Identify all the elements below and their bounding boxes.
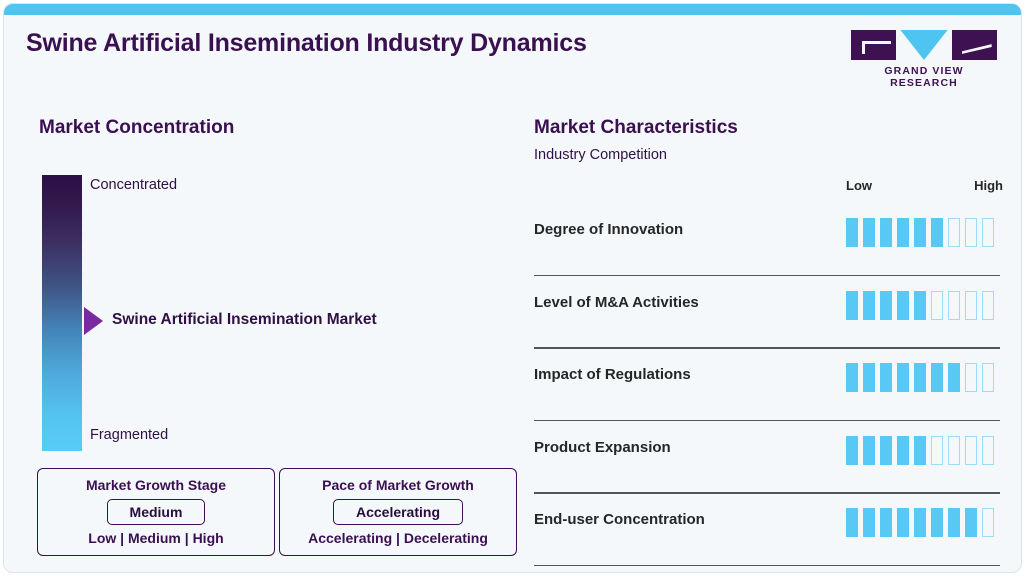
rating-bar-empty: [931, 291, 943, 320]
rating-bar-filled: [965, 508, 977, 537]
rating-bars: [846, 508, 994, 537]
market-position-label: Swine Artificial Insemination Market: [112, 311, 377, 329]
rating-bar-filled: [846, 508, 858, 537]
rating-bar-empty: [982, 508, 994, 537]
rating-bar-filled: [880, 218, 892, 247]
rating-bar-empty: [965, 363, 977, 392]
rating-bar-filled: [931, 363, 943, 392]
rating-bar-filled: [931, 218, 943, 247]
rating-bar-filled: [846, 291, 858, 320]
pace-of-growth-card: Pace of Market Growth Accelerating Accel…: [279, 468, 517, 556]
rating-bar-filled: [914, 436, 926, 465]
rating-bar-filled: [914, 508, 926, 537]
pace-scale: Accelerating | Decelerating: [308, 530, 488, 546]
rating-bar-filled: [897, 363, 909, 392]
growth-stage-value: Medium: [107, 499, 206, 525]
rating-bar-filled: [948, 508, 960, 537]
scale-label-concentrated: Concentrated: [90, 177, 177, 193]
rating-bar-filled: [931, 508, 943, 537]
rating-bar-empty: [982, 291, 994, 320]
rating-bars: [846, 363, 994, 392]
rating-bar-empty: [982, 218, 994, 247]
rating-bar-filled: [897, 218, 909, 247]
rating-bar-filled: [897, 508, 909, 537]
pace-value: Accelerating: [333, 499, 463, 525]
rating-bar-empty: [948, 218, 960, 247]
rating-bar-filled: [863, 436, 875, 465]
growth-stage-scale: Low | Medium | High: [88, 530, 223, 546]
rating-bar-filled: [880, 436, 892, 465]
rating-bar-empty: [965, 218, 977, 247]
pace-heading: Pace of Market Growth: [322, 477, 474, 493]
rating-bar-filled: [863, 508, 875, 537]
rating-bar-empty: [982, 363, 994, 392]
rating-bar-filled: [897, 436, 909, 465]
market-characteristics-panel: Market Characteristics Industry Competit…: [516, 4, 1022, 573]
concentration-gradient-scale: [42, 175, 82, 451]
rating-bars: [846, 291, 994, 320]
characteristic-row: Product Expansion: [534, 422, 1000, 494]
rating-bar-filled: [914, 218, 926, 247]
market-growth-stage-card: Market Growth Stage Medium Low | Medium …: [37, 468, 275, 556]
rating-bar-filled: [846, 436, 858, 465]
characteristic-row: End-user Concentration: [534, 494, 1000, 566]
rating-bar-empty: [965, 436, 977, 465]
rating-bar-filled: [880, 363, 892, 392]
rating-bar-empty: [982, 436, 994, 465]
scale-header-low: Low: [846, 178, 872, 193]
scale-header-high: High: [974, 178, 1003, 193]
market-concentration-panel: Market Concentration Concentrated Fragme…: [4, 4, 516, 573]
rating-bar-empty: [931, 436, 943, 465]
rating-bar-filled: [863, 291, 875, 320]
infographic-card: Swine Artificial Insemination Industry D…: [3, 3, 1022, 573]
rating-bar-empty: [948, 291, 960, 320]
characteristic-label: Impact of Regulations: [534, 366, 691, 383]
market-position-arrow-icon: [84, 307, 103, 335]
characteristic-label: Product Expansion: [534, 439, 671, 456]
growth-stage-heading: Market Growth Stage: [86, 477, 226, 493]
characteristic-row: Impact of Regulations: [534, 349, 1000, 421]
rating-bar-filled: [914, 363, 926, 392]
rating-bars: [846, 436, 994, 465]
rating-bar-filled: [948, 363, 960, 392]
rating-bar-filled: [897, 291, 909, 320]
rating-bar-filled: [880, 508, 892, 537]
rating-bar-filled: [863, 218, 875, 247]
characteristic-label: Level of M&A Activities: [534, 294, 699, 311]
rating-bar-filled: [863, 363, 875, 392]
rating-bar-filled: [880, 291, 892, 320]
characteristic-label: Degree of Innovation: [534, 221, 683, 238]
rating-bar-filled: [846, 218, 858, 247]
characteristic-row: Degree of Innovation: [534, 204, 1000, 276]
rating-bar-empty: [948, 436, 960, 465]
rating-bar-filled: [846, 363, 858, 392]
rating-bar-empty: [965, 291, 977, 320]
market-characteristics-subtitle: Industry Competition: [534, 147, 667, 163]
characteristic-row: Level of M&A Activities: [534, 277, 1000, 349]
market-concentration-title: Market Concentration: [39, 117, 234, 139]
characteristic-label: End-user Concentration: [534, 511, 705, 528]
market-characteristics-title: Market Characteristics: [534, 117, 738, 139]
scale-header: Low High: [846, 178, 1003, 193]
scale-label-fragmented: Fragmented: [90, 427, 168, 443]
row-divider: [534, 565, 1000, 567]
rating-bars: [846, 218, 994, 247]
rating-bar-filled: [914, 291, 926, 320]
